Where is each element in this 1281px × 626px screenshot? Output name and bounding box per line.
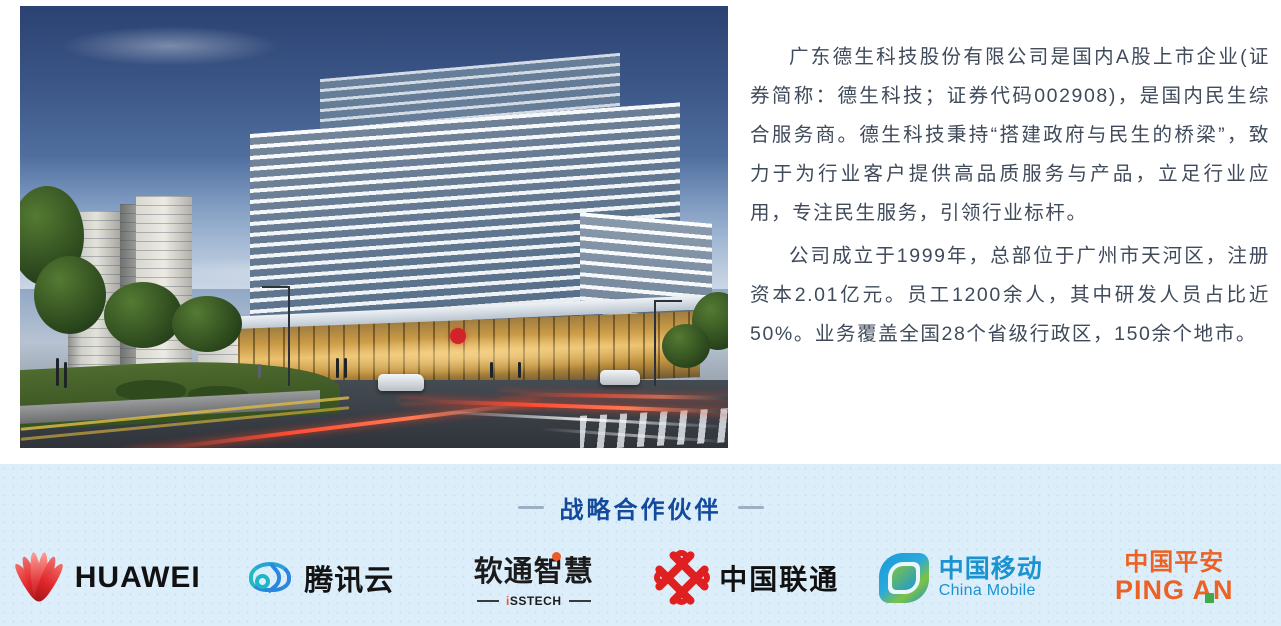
china-mobile-wordmark-cn: 中国移动 — [939, 556, 1043, 582]
pedestrian — [490, 362, 493, 378]
tencent-cloud-wordmark: 腾讯云 — [304, 557, 394, 599]
tencent-cloud-icon — [246, 557, 294, 599]
partner-logo-isoftstone[interactable]: 软通智慧 iSSTECH — [427, 534, 641, 622]
tree — [172, 296, 242, 352]
partner-logo-china-unicom[interactable]: 中国联通 — [641, 534, 855, 622]
intro-paragraph-2: 公司成立于1999年，总部位于广州市天河区，注册资本2.01亿元。员工1200余… — [750, 237, 1270, 354]
headquarters-building-image — [20, 6, 728, 448]
china-unicom-wordmark: 中国联通 — [719, 558, 839, 598]
huawei-wordmark: HUAWEI — [75, 561, 201, 595]
partner-logo-row: HUAWEI 腾讯云 软通智慧 iSSTECH — [0, 534, 1281, 622]
title-dash-left-icon — [518, 506, 544, 509]
car — [378, 374, 424, 391]
building-logo-sign — [450, 328, 466, 344]
intro-paragraph-1: 广东德生科技股份有限公司是国内A股上市企业(证券简称：德生科技；证券代码0029… — [750, 38, 1270, 233]
pedestrian — [336, 358, 339, 378]
company-intro-text: 广东德生科技股份有限公司是国内A股上市企业(证券简称：德生科技；证券代码0029… — [750, 38, 1270, 354]
china-mobile-lockup: 中国移动 China Mobile — [939, 556, 1043, 599]
page-root: 广东德生科技股份有限公司是国内A股上市企业(证券简称：德生科技；证券代码0029… — [0, 0, 1281, 626]
pedestrian — [258, 364, 261, 378]
isoftstone-subtitle: iSSTECH — [506, 594, 562, 608]
pedestrian — [56, 358, 59, 386]
partners-title: 战略合作伙伴 — [560, 490, 722, 525]
strategic-partners-section: 战略合作伙伴 HUAWEI 腾讯云 — [0, 464, 1281, 626]
isoftstone-orange-dot-icon — [552, 552, 561, 561]
pedestrian — [344, 358, 347, 378]
isoftstone-wordmark: 软通智慧 — [474, 548, 594, 590]
tree — [34, 256, 106, 334]
huawei-flower-icon — [13, 553, 65, 603]
china-mobile-wave-icon — [879, 553, 929, 603]
partner-logo-tencent-cloud[interactable]: 腾讯云 — [214, 534, 428, 622]
tree — [662, 324, 710, 368]
rule-right-icon — [569, 600, 591, 602]
isoftstone-subtitle-row: iSSTECH — [477, 594, 591, 608]
tree — [104, 282, 182, 348]
pedestrian — [518, 362, 521, 378]
street-light — [288, 286, 290, 386]
street-light — [654, 300, 656, 386]
ping-an-wordmark-cn: 中国平安 — [1124, 550, 1224, 576]
partners-title-row: 战略合作伙伴 — [0, 490, 1281, 525]
pedestrian — [64, 362, 67, 388]
china-mobile-wordmark-en: China Mobile — [939, 583, 1043, 600]
ping-an-lockup: 中国平安 PING AN — [1115, 550, 1234, 605]
cloud-wisp — [60, 26, 280, 66]
china-unicom-knot-icon — [655, 552, 709, 604]
isoftstone-lockup: 软通智慧 iSSTECH — [474, 548, 594, 608]
car — [600, 370, 640, 385]
partner-logo-ping-an[interactable]: 中国平安 PING AN — [1068, 534, 1281, 622]
partner-logo-huawei[interactable]: HUAWEI — [0, 534, 214, 622]
company-intro-section: 广东德生科技股份有限公司是国内A股上市企业(证券简称：德生科技；证券代码0029… — [0, 0, 1281, 464]
partner-logo-china-mobile[interactable]: 中国移动 China Mobile — [854, 534, 1068, 622]
rule-left-icon — [477, 600, 499, 602]
ping-an-wordmark-en: PING AN — [1115, 576, 1234, 605]
ping-an-green-square-icon — [1205, 593, 1214, 603]
title-dash-right-icon — [738, 506, 764, 509]
